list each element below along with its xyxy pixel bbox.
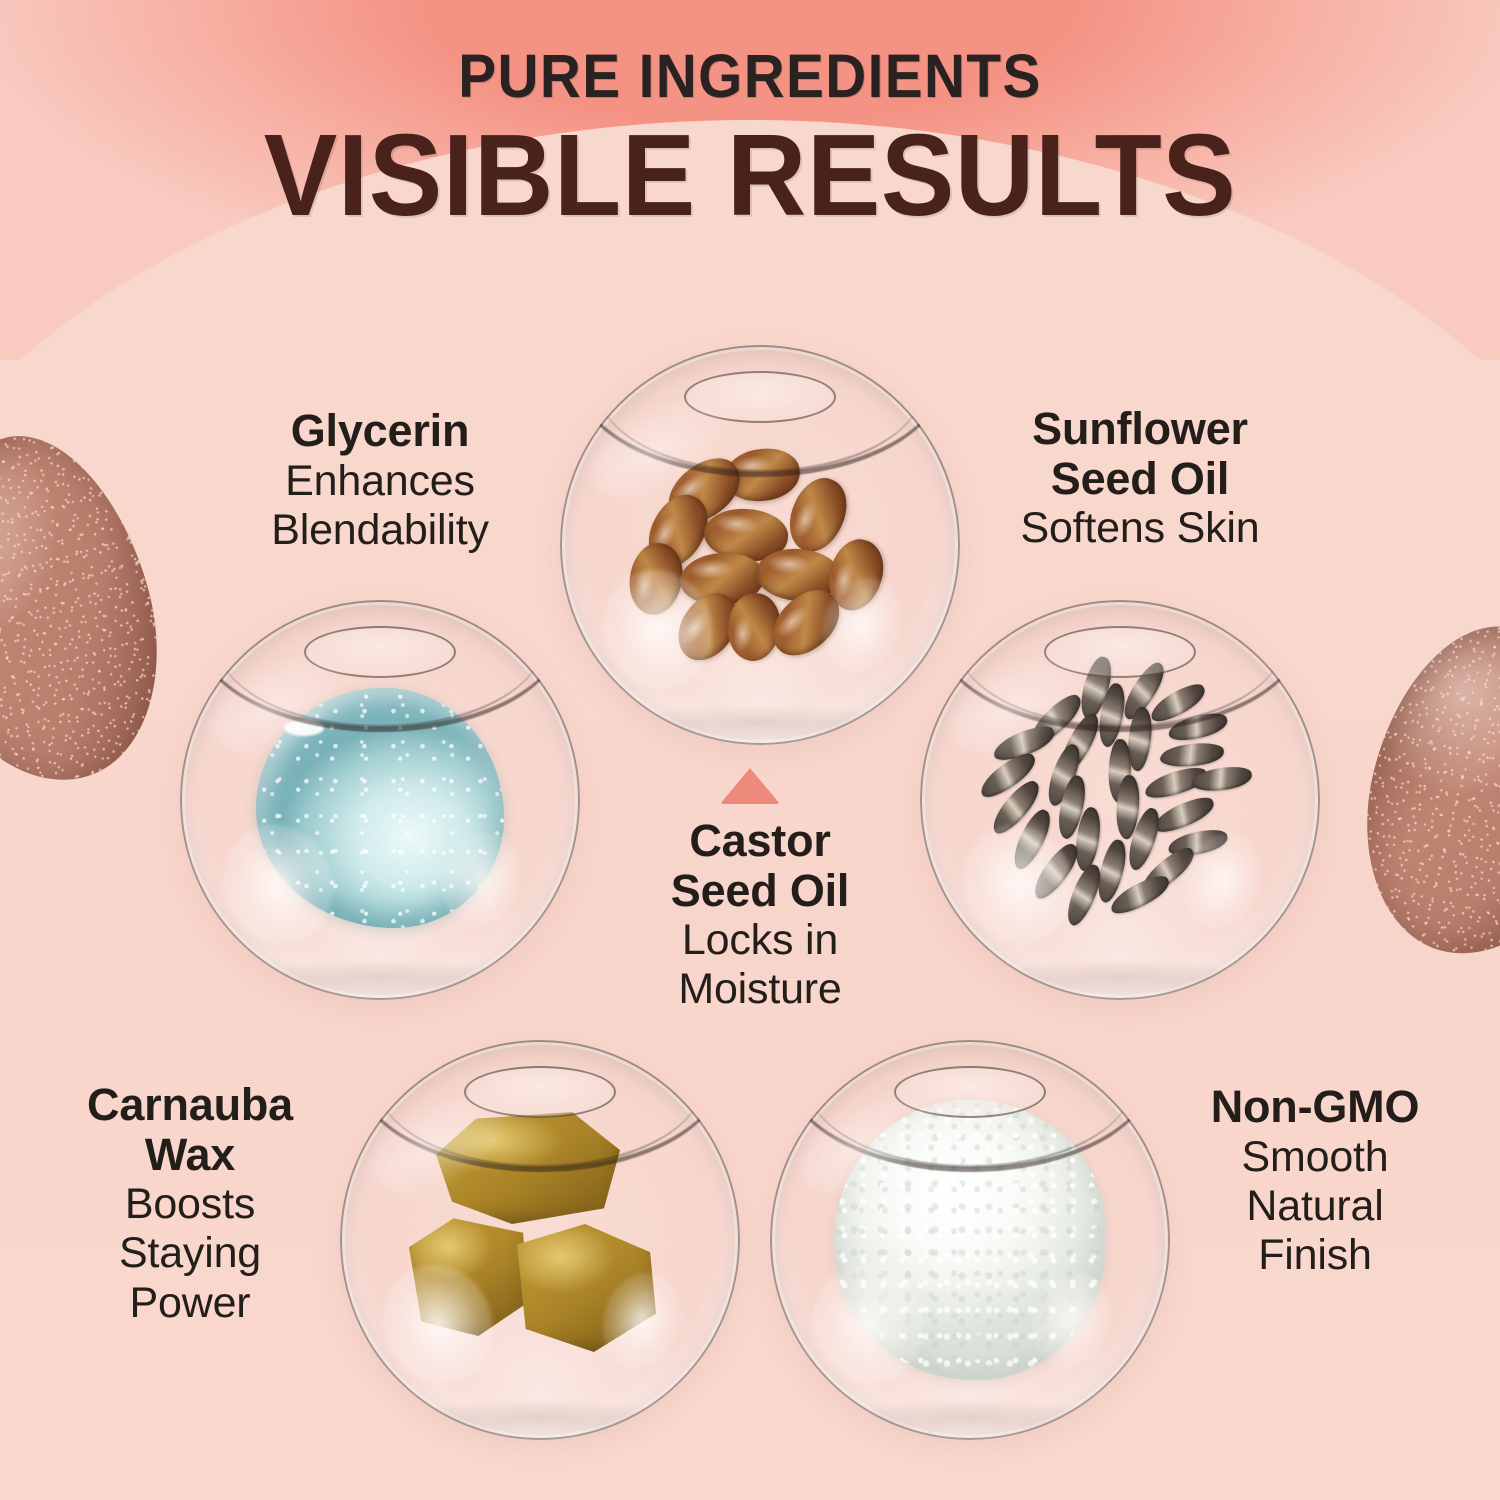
ingredient-benefit-castor-line-1: Locks in: [570, 917, 950, 964]
ingredient-title-castor-line-1: Castor: [570, 816, 950, 866]
glass-base-shadow: [228, 960, 532, 996]
ingredient-label-glycerin: Glycerin Enhances Blendability: [180, 406, 580, 554]
ingredient-title-carnauba-line-1: Carnauba: [20, 1080, 360, 1130]
ingredient-benefit-castor-line-2: Moisture: [570, 966, 950, 1013]
ingredient-label-castor-seed-oil: Castor Seed Oil Locks in Moisture: [570, 816, 950, 1014]
castor-pointer-triangle-icon: [720, 768, 780, 804]
ingredient-title-sunflower-line-1: Sunflower: [940, 404, 1340, 454]
glass-base-shadow: [818, 1400, 1122, 1436]
ingredient-benefit-glycerin-line-1: Enhances: [180, 458, 580, 505]
ingredient-label-non-gmo: Non-GMO Smooth Natural Finish: [1150, 1082, 1480, 1279]
infographic-canvas: PURE INGREDIENTS VISIBLE RESULTS: [0, 0, 1500, 1500]
ingredient-label-carnauba-wax: Carnauba Wax Boosts Staying Power: [20, 1080, 360, 1327]
headline-line-2: VISIBLE RESULTS: [38, 117, 1463, 233]
ingredient-sphere-carnauba-wax: [340, 1040, 740, 1440]
ingredient-sphere-glycerin: [180, 600, 580, 1000]
ingredient-benefit-non-gmo-line-1: Smooth: [1150, 1134, 1480, 1181]
ingredient-benefit-non-gmo-line-3: Finish: [1150, 1232, 1480, 1279]
ingredient-benefit-carnauba-line-3: Power: [20, 1280, 360, 1327]
ingredient-benefit-sunflower-line-1: Softens Skin: [940, 505, 1340, 552]
ingredient-title-non-gmo: Non-GMO: [1150, 1082, 1480, 1132]
ingredient-benefit-non-gmo-line-2: Natural: [1150, 1183, 1480, 1230]
ingredient-sphere-non-gmo: [770, 1040, 1170, 1440]
ingredient-benefit-glycerin-line-2: Blendability: [180, 507, 580, 554]
headline-line-1: PURE INGREDIENTS: [53, 46, 1448, 107]
ingredient-title-carnauba-line-2: Wax: [20, 1130, 360, 1180]
glass-base-shadow: [608, 705, 912, 741]
glass-base-shadow: [388, 1400, 692, 1436]
ingredient-sphere-sunflower-seed-oil: [920, 600, 1320, 1000]
ingredient-title-castor-line-2: Seed Oil: [570, 866, 950, 916]
ingredient-benefit-carnauba-line-2: Staying: [20, 1230, 360, 1277]
ingredient-benefit-carnauba-line-1: Boosts: [20, 1181, 360, 1228]
page-title: PURE INGREDIENTS VISIBLE RESULTS: [0, 46, 1500, 233]
glass-base-shadow: [968, 960, 1272, 996]
ingredient-sphere-castor-seed-oil: [560, 345, 960, 745]
ingredient-title-sunflower-line-2: Seed Oil: [940, 454, 1340, 504]
ingredient-title-glycerin: Glycerin: [180, 406, 580, 456]
ingredient-label-sunflower-seed-oil: Sunflower Seed Oil Softens Skin: [940, 404, 1340, 552]
